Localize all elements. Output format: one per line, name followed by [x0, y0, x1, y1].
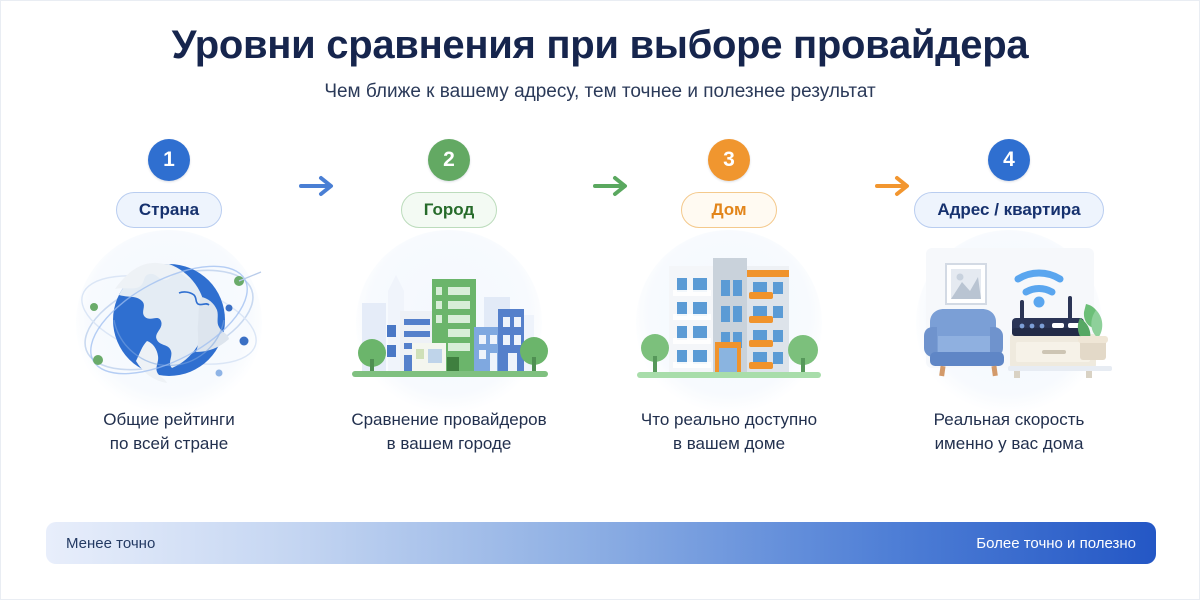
illustration-city	[331, 244, 567, 396]
step-label-country: Страна	[116, 192, 222, 228]
living-room-router-icon	[900, 244, 1118, 396]
illustration-globe	[51, 244, 287, 396]
apartment-building-icon	[629, 244, 829, 396]
illustration-building	[611, 244, 847, 396]
page-title: Уровни сравнения при выборе провайдера	[1, 23, 1199, 67]
step-country: 1 Страна	[29, 139, 309, 456]
globe-icon	[69, 245, 269, 395]
page-subtitle: Чем ближе к вашему адресу, тем точнее и …	[1, 81, 1199, 103]
arrow-country-to-city	[297, 173, 341, 199]
city-skyline-icon	[344, 245, 554, 395]
step-badge-2: 2	[428, 139, 470, 181]
accuracy-scale-bar: Менее точно Более точно и полезно	[46, 522, 1156, 564]
illustration-room	[891, 244, 1127, 396]
step-label-building: Дом	[681, 192, 777, 228]
arrow-city-to-building	[591, 173, 635, 199]
infographic-page: Уровни сравнения при выборе провайдера Ч…	[0, 0, 1200, 600]
header: Уровни сравнения при выборе провайдера Ч…	[1, 1, 1199, 103]
scale-label-less-accurate: Менее точно	[66, 535, 155, 552]
step-label-address: Адрес / квартира	[914, 192, 1103, 228]
step-city: 2 Город	[309, 139, 589, 456]
step-badge-4: 4	[988, 139, 1030, 181]
arrow-building-to-address	[873, 173, 917, 199]
step-badge-3: 3	[708, 139, 750, 181]
scale-label-more-accurate: Более точно и полезно	[976, 535, 1136, 552]
step-label-city: Город	[401, 192, 498, 228]
step-badge-1: 1	[148, 139, 190, 181]
